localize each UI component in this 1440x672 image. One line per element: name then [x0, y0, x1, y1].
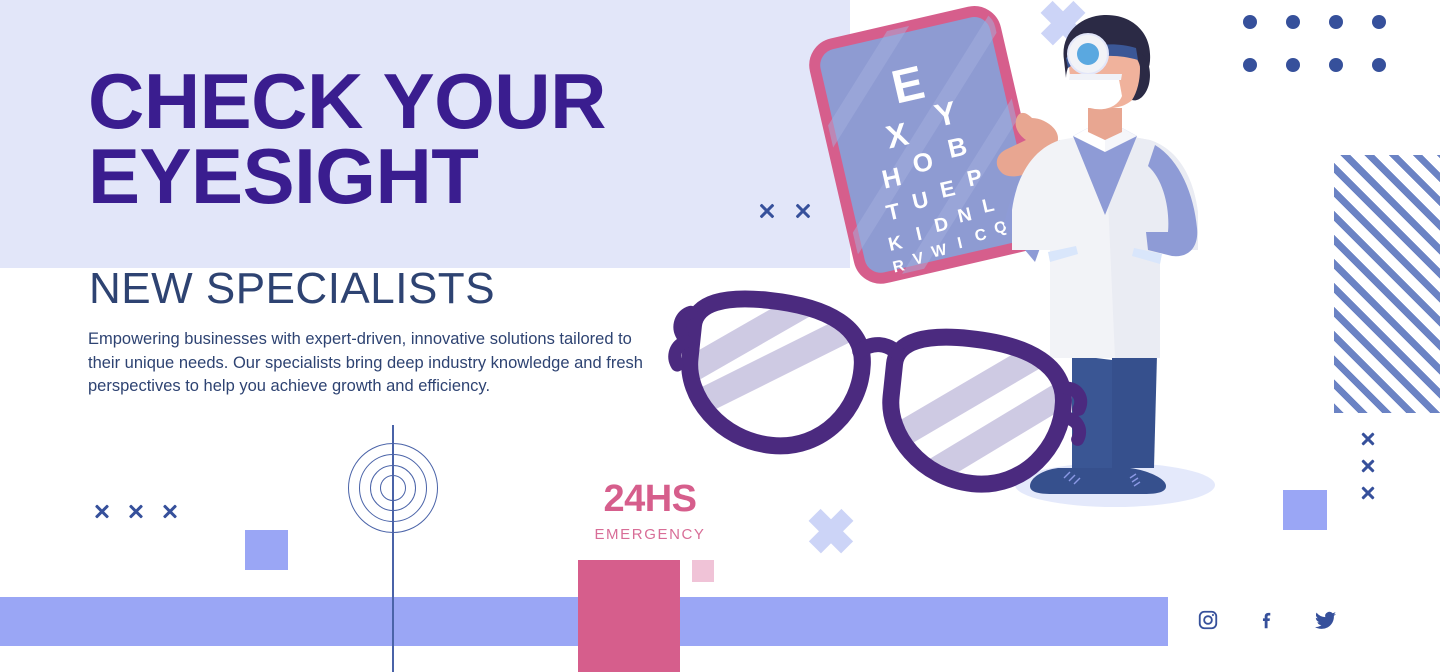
dot: [1286, 15, 1300, 29]
facebook-icon[interactable]: [1251, 604, 1283, 636]
decorative-square-right: [1283, 490, 1327, 530]
social-links: [1192, 604, 1342, 636]
emergency-label: EMERGENCY: [540, 526, 760, 543]
doctor-character: [997, 15, 1215, 507]
concentric-rings-decoration: [348, 443, 438, 533]
body-paragraph: Empowering businesses with expert-driven…: [88, 328, 644, 399]
dot: [1372, 15, 1386, 29]
x-mark: [127, 503, 144, 520]
eyeglasses: [660, 254, 1094, 515]
x-mark: [1360, 458, 1376, 474]
decorative-square-left: [245, 530, 288, 570]
emergency-hours: 24HS: [540, 478, 760, 521]
x-mark: [161, 503, 178, 520]
pink-accent-mini-square: [692, 560, 714, 582]
eyecare-illustration: E X Y H O B T U E P K I D N L R V: [660, 0, 1280, 540]
diagonal-stripes-decoration: [1334, 155, 1440, 413]
page-title: CHECK YOUR EYESIGHT: [88, 64, 606, 214]
dot: [1329, 58, 1343, 72]
emergency-callout: 24HS EMERGENCY: [540, 478, 760, 543]
page-subtitle: NEW SPECIALISTS: [89, 264, 495, 314]
x-mark: [1360, 431, 1376, 447]
ring: [380, 475, 406, 501]
x-mark: [1360, 485, 1376, 501]
instagram-icon[interactable]: [1192, 604, 1224, 636]
twitter-icon[interactable]: [1310, 604, 1342, 636]
dot: [1372, 58, 1386, 72]
poster-canvas: E X Y H O B T U E P K I D N L R V: [0, 0, 1440, 672]
pink-accent-block: [578, 560, 680, 672]
dot: [1329, 15, 1343, 29]
x-mark: [93, 503, 110, 520]
dot: [1286, 58, 1300, 72]
